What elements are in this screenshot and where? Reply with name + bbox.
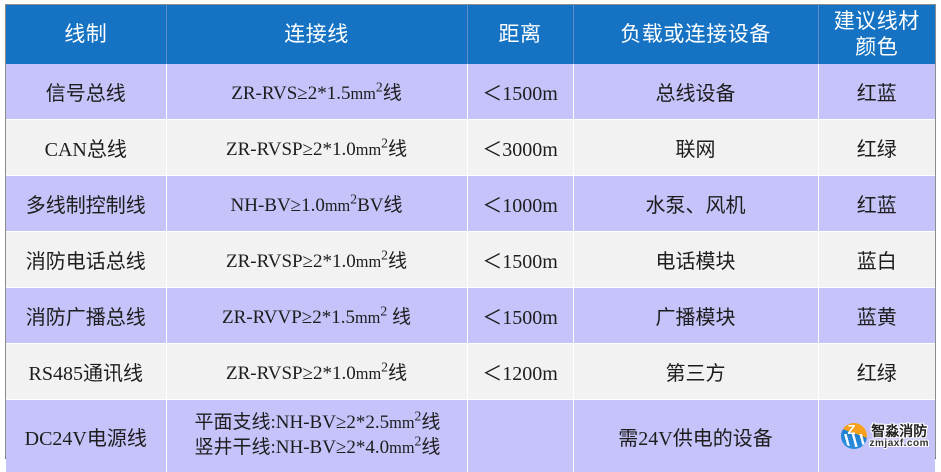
wire-suffix: 线 <box>421 412 440 433</box>
cell-system: RS485通讯线 <box>6 344 166 400</box>
wire-superscript: 2 <box>381 136 388 151</box>
wire-suffix: 线 <box>387 307 411 328</box>
watermark-logo: 智淼消防 zmjaxf.com <box>841 423 929 449</box>
wire-prefix: 平面支线:NH-BV≥2*2.5 <box>195 412 390 433</box>
cell-load: 联网 <box>573 120 818 176</box>
table-row: 多线制控制线 NH-BV≥1.0mm2BV线 ＜1000m 水泵、风机 红蓝 <box>6 176 935 232</box>
wire-suffix: 线 <box>421 437 440 458</box>
cell-wire: NH-BV≥1.0mm2BV线 <box>166 176 467 232</box>
wire-unit: mm <box>325 196 350 215</box>
header-cell-load: 负载或连接设备 <box>573 5 818 64</box>
cell-system: 消防电话总线 <box>6 232 166 288</box>
wire-unit: mm <box>355 308 380 327</box>
wire-suffix: BV线 <box>357 195 402 216</box>
header-cell-system: 线制 <box>6 5 166 64</box>
cell-system: 消防广播总线 <box>6 288 166 344</box>
table-row: CAN总线 ZR-RVSP≥2*1.0mm2线 ＜3000m 联网 红绿 <box>6 120 935 176</box>
cell-color: 智淼消防 zmjaxf.com <box>818 400 935 472</box>
cell-load: 需24V供电的设备 <box>573 400 818 472</box>
table-row: 信号总线 ZR-RVS≥2*1.5mm2线 ＜1500m 总线设备 红蓝 <box>6 64 935 120</box>
cell-distance: ＜3000m <box>467 120 573 176</box>
cell-system: 多线制控制线 <box>6 176 166 232</box>
wire-suffix: 线 <box>388 251 407 272</box>
cell-wire: ZR-RVSP≥2*1.0mm2线 <box>166 344 467 400</box>
cell-color: 蓝白 <box>818 232 935 288</box>
watermark-url: zmjaxf.com <box>870 439 929 449</box>
cell-color: 红绿 <box>818 344 935 400</box>
table-row: 消防广播总线 ZR-RVVP≥2*1.5mm2 线 ＜1500m 广播模块 蓝黄 <box>6 288 935 344</box>
cell-wire: ZR-RVSP≥2*1.0mm2线 <box>166 232 467 288</box>
table-body: 信号总线 ZR-RVS≥2*1.5mm2线 ＜1500m 总线设备 红蓝 CAN… <box>6 64 935 472</box>
cell-distance: ＜1000m <box>467 176 573 232</box>
watermark-text: 智淼消防 zmjaxf.com <box>870 424 929 449</box>
wire-unit: mm <box>356 364 381 383</box>
wiring-table-frame: 线制 连接线 距离 负载或连接设备 建议线材 颜色 信号总线 ZR-RVS≥2*… <box>5 4 936 459</box>
wire-unit: mm <box>356 252 381 271</box>
wire-superscript: 2 <box>376 80 383 95</box>
header-row: 线制 连接线 距离 负载或连接设备 建议线材 颜色 <box>6 5 935 64</box>
header-cell-wire: 连接线 <box>166 5 467 64</box>
cell-load: 第三方 <box>573 344 818 400</box>
wire-unit: mm <box>389 413 414 432</box>
wire-unit: mm <box>350 84 375 103</box>
wire-unit: mm <box>389 438 414 457</box>
cell-load: 广播模块 <box>573 288 818 344</box>
cell-distance: ＜1500m <box>467 64 573 120</box>
header-color-line1: 建议线材 <box>834 9 920 33</box>
wire-prefix: ZR-RVSP≥2*1.0 <box>226 139 356 160</box>
wire-suffix: 线 <box>388 139 407 160</box>
wire-line-2: 竖井干线:NH-BV≥2*4.0mm2线 <box>195 436 463 461</box>
cell-distance: ＜1500m <box>467 288 573 344</box>
wire-prefix: ZR-RVSP≥2*1.0 <box>226 251 356 272</box>
wire-suffix: 线 <box>383 83 402 104</box>
cell-color: 蓝黄 <box>818 288 935 344</box>
table-row: DC24V电源线 平面支线:NH-BV≥2*2.5mm2线 竖井干线:NH-BV… <box>6 400 935 472</box>
wire-line-1: 平面支线:NH-BV≥2*2.5mm2线 <box>195 411 463 436</box>
table-row: RS485通讯线 ZR-RVSP≥2*1.0mm2线 ＜1200m 第三方 红绿 <box>6 344 935 400</box>
cell-distance: ＜1200m <box>467 344 573 400</box>
wire-prefix: ZR-RVSP≥2*1.0 <box>226 363 356 384</box>
cell-color: 红蓝 <box>818 176 935 232</box>
wire-prefix: 竖井干线:NH-BV≥2*4.0 <box>195 437 390 458</box>
wire-superscript: 2 <box>381 360 388 375</box>
cell-system: DC24V电源线 <box>6 400 166 472</box>
wire-suffix: 线 <box>388 363 407 384</box>
header-cell-distance: 距离 <box>467 5 573 64</box>
cell-wire: ZR-RVSP≥2*1.0mm2线 <box>166 120 467 176</box>
cell-wire: ZR-RVS≥2*1.5mm2线 <box>166 64 467 120</box>
cell-system: 信号总线 <box>6 64 166 120</box>
zhimiao-logo-icon <box>841 423 867 449</box>
watermark-brand: 智淼消防 <box>870 424 929 438</box>
wire-prefix: NH-BV≥1.0 <box>231 195 325 216</box>
cell-load: 水泵、风机 <box>573 176 818 232</box>
cell-load: 总线设备 <box>573 64 818 120</box>
screenshot-root: 线制 连接线 距离 负载或连接设备 建议线材 颜色 信号总线 ZR-RVS≥2*… <box>0 0 941 469</box>
wire-unit: mm <box>356 140 381 159</box>
cell-color: 红蓝 <box>818 64 935 120</box>
table-header: 线制 连接线 距离 负载或连接设备 建议线材 颜色 <box>6 5 935 64</box>
cell-load: 电话模块 <box>573 232 818 288</box>
cell-distance <box>467 400 573 472</box>
header-color-line2: 颜色 <box>855 35 898 59</box>
wire-prefix: ZR-RVS≥2*1.5 <box>231 83 350 104</box>
wiring-specification-table: 线制 连接线 距离 负载或连接设备 建议线材 颜色 信号总线 ZR-RVS≥2*… <box>6 5 935 472</box>
cell-wire: 平面支线:NH-BV≥2*2.5mm2线 竖井干线:NH-BV≥2*4.0mm2… <box>166 400 467 472</box>
header-cell-color: 建议线材 颜色 <box>818 5 935 64</box>
table-row: 消防电话总线 ZR-RVSP≥2*1.0mm2线 ＜1500m 电话模块 蓝白 <box>6 232 935 288</box>
wire-superscript: 2 <box>381 248 388 263</box>
cell-wire: ZR-RVVP≥2*1.5mm2 线 <box>166 288 467 344</box>
cell-color: 红绿 <box>818 120 935 176</box>
cell-distance: ＜1500m <box>467 232 573 288</box>
cell-system: CAN总线 <box>6 120 166 176</box>
wire-prefix: ZR-RVVP≥2*1.5 <box>222 307 355 328</box>
